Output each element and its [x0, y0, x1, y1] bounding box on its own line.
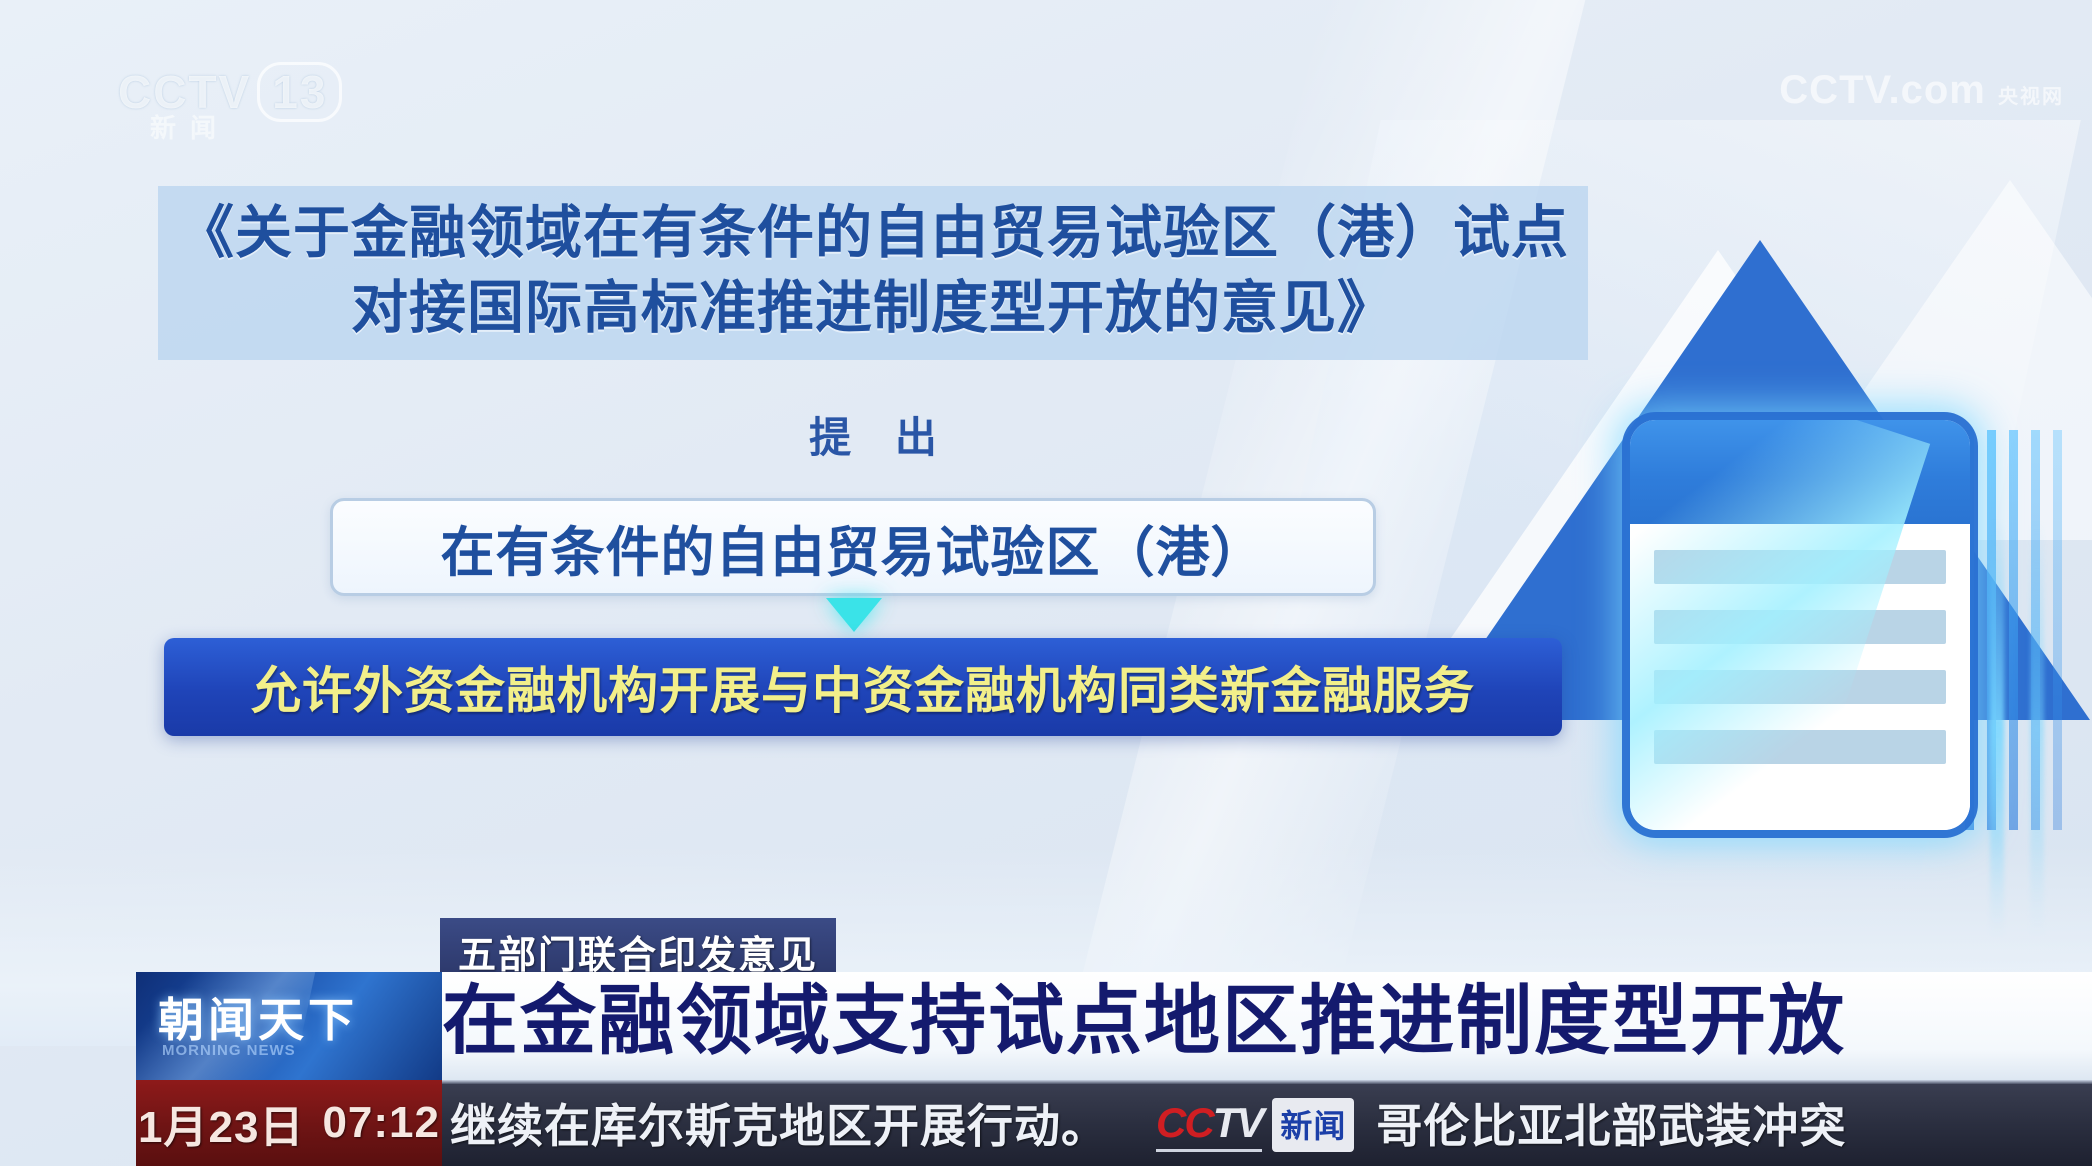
- document-title-line-1: 《关于金融领域在有条件的自由贸易试验区（港）试点: [158, 196, 1588, 271]
- site-watermark-domain: .com: [1889, 68, 1986, 112]
- document-title-band: 《关于金融领域在有条件的自由贸易试验区（港）试点 对接国际高标准推进制度型开放的…: [158, 186, 1588, 360]
- site-watermark-cn: 央视网: [1998, 86, 2064, 108]
- ticker-item-1: 继续在库尔斯克地区开展行动。: [450, 1090, 1108, 1156]
- connector-label: 提 出: [158, 404, 1588, 465]
- document-card-line: [1654, 670, 1946, 704]
- site-watermark-cctv: CCTV: [1779, 68, 1888, 112]
- channel-watermark-sub: 新闻: [150, 108, 230, 145]
- channel-watermark-number: 13: [257, 62, 342, 122]
- document-card-icon: [1630, 420, 1970, 830]
- ticker-item-2: 哥伦比亚北部武装冲突: [1376, 1090, 1846, 1156]
- document-card-line: [1654, 550, 1946, 584]
- down-arrow-icon: [826, 598, 882, 632]
- document-card-header: [1630, 420, 1970, 524]
- highlight-banner-text: 允许外资金融机构开展与中资金融机构同类新金融服务: [251, 651, 1475, 723]
- date-text: 1月23日: [138, 1091, 304, 1155]
- scope-box: 在有条件的自由贸易试验区（港）: [330, 498, 1376, 596]
- cctv-news-logo-cctv: CCTV: [1156, 1099, 1262, 1152]
- cctv-news-logo-cn: 新闻: [1272, 1098, 1354, 1152]
- document-card-line: [1654, 610, 1946, 644]
- time-text: 07:12: [322, 1098, 440, 1148]
- cctv-news-logo-icon: CCTV 新闻: [1156, 1098, 1354, 1152]
- program-logo-name: 朝闻天下: [158, 984, 358, 1050]
- document-title-line-2: 对接国际高标准推进制度型开放的意见》: [158, 271, 1588, 346]
- scope-box-text: 在有条件的自由贸易试验区（港）: [441, 508, 1266, 587]
- news-ticker: 继续在库尔斯克地区开展行动。 CCTV 新闻 哥伦比亚北部武装冲突: [442, 1080, 2092, 1166]
- site-watermark-cctvcom: CCTV.com 央视网: [1779, 68, 2064, 113]
- document-card-body: [1630, 524, 1970, 830]
- document-card-line: [1654, 730, 1946, 764]
- program-logo-name-en: MORNING NEWS: [162, 1042, 296, 1059]
- highlight-banner: 允许外资金融机构开展与中资金融机构同类新金融服务: [164, 638, 1562, 736]
- program-logo: 朝闻天下 MORNING NEWS: [136, 972, 442, 1080]
- datetime-bar: 1月23日 07:12: [136, 1080, 442, 1166]
- headline-text: 在金融领域支持试点地区推进制度型开放: [442, 968, 1846, 1076]
- doc-card-side-lines: [1965, 430, 2085, 830]
- broadcast-screen: CCTV13 新闻 CCTV.com 央视网 《关于金融领域在有条件的自由贸易试…: [0, 0, 2092, 1166]
